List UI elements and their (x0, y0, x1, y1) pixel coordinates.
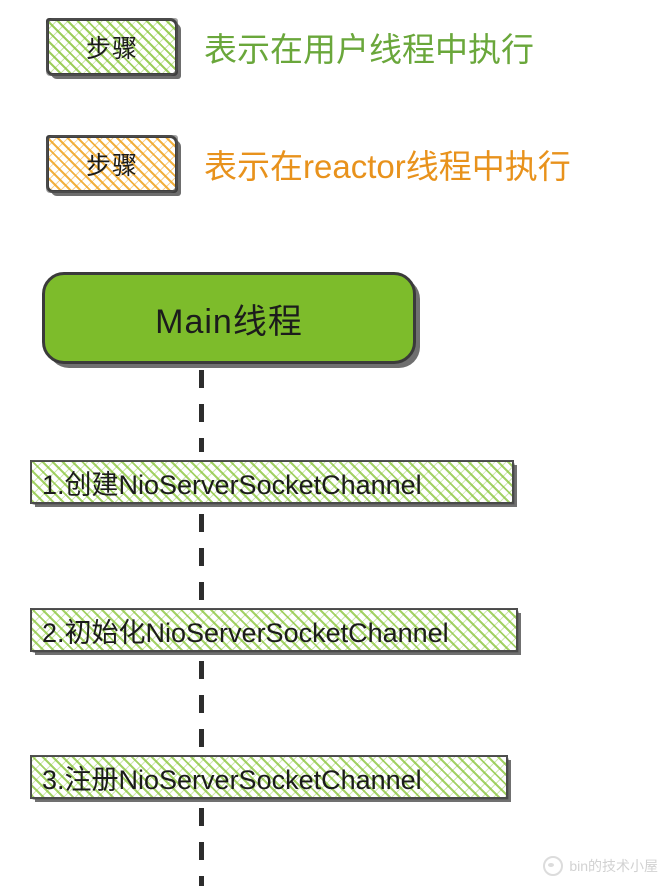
connector-step2-to-step3 (199, 661, 204, 747)
connector-step3-continues (199, 808, 204, 886)
flow-node-main-thread: Main线程 (42, 272, 416, 364)
flow-step-1-label: 1.创建NioServerSocketChannel (42, 463, 422, 502)
legend-text-reactor-thread: 表示在reactor线程中执行 (204, 140, 571, 188)
legend-chip-green-label: 步骤 (86, 29, 138, 65)
legend-chip-orange: 步骤 (46, 135, 178, 193)
flow-step-3-label: 3.注册NioServerSocketChannel (42, 758, 422, 797)
legend-text-user-thread: 表示在用户线程中执行 (204, 23, 534, 71)
flow-node-main-thread-label: Main线程 (155, 294, 303, 343)
flow-step-2-label: 2.初始化NioServerSocketChannel (42, 611, 449, 650)
watermark: bin的技术小屋 (543, 856, 658, 876)
legend-item-reactor-thread: 步骤 表示在reactor线程中执行 (46, 135, 571, 193)
flow-step-3: 3.注册NioServerSocketChannel (30, 755, 508, 799)
wechat-logo-icon (543, 856, 563, 876)
connector-step1-to-step2 (199, 514, 204, 600)
legend-item-user-thread: 步骤 表示在用户线程中执行 (46, 18, 534, 76)
flow-step-2: 2.初始化NioServerSocketChannel (30, 608, 518, 652)
legend-chip-green: 步骤 (46, 18, 178, 76)
watermark-label: bin的技术小屋 (569, 856, 658, 876)
connector-main-to-step1 (199, 370, 204, 452)
flow-step-1: 1.创建NioServerSocketChannel (30, 460, 514, 504)
legend-chip-orange-label: 步骤 (86, 146, 138, 182)
